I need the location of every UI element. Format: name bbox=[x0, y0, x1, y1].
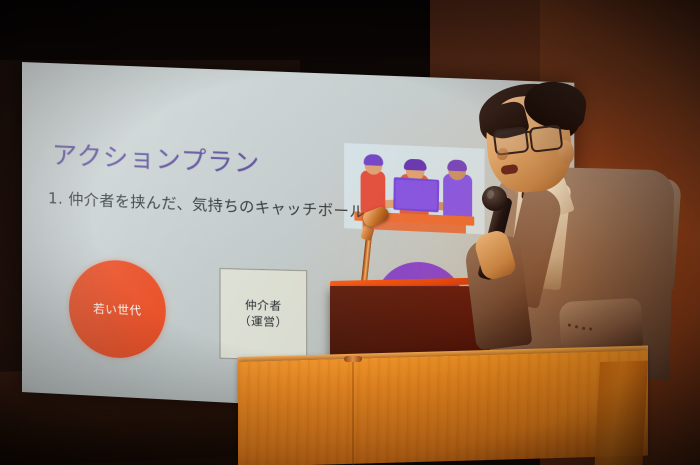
young-generation-label: 若い世代 bbox=[93, 300, 141, 318]
sleeve-button bbox=[582, 327, 585, 330]
speaker-sleeve-cuff bbox=[559, 298, 644, 352]
gooseneck-mic-base bbox=[344, 356, 362, 362]
sleeve-button bbox=[575, 325, 578, 328]
illustration-left-person-hair bbox=[364, 154, 384, 166]
podium-wood-grain bbox=[238, 351, 648, 465]
presentation-photo: アクションプラン 1. 仲介者を挟んだ、気持ちのキャッチボール 若い世代 仲介者… bbox=[0, 0, 700, 465]
slide-title: アクションプラン bbox=[52, 135, 260, 180]
wooden-podium bbox=[238, 351, 648, 465]
young-generation-ellipse: 若い世代 bbox=[69, 258, 166, 360]
podium-side-panel bbox=[594, 361, 648, 465]
illustration-right-person-hair bbox=[447, 159, 467, 171]
slide-subtitle: 1. 仲介者を挟んだ、気持ちのキャッチボール bbox=[48, 187, 365, 222]
eyeglasses-right-lens-icon bbox=[529, 124, 564, 153]
sleeve-button bbox=[589, 327, 592, 330]
sleeve-button bbox=[568, 324, 571, 327]
podium-corner-seam bbox=[352, 360, 354, 465]
speaker-nose bbox=[497, 148, 508, 160]
mediator-box: 仲介者 （運営） bbox=[220, 268, 308, 361]
mediator-label-line1: 仲介者 bbox=[245, 298, 282, 315]
illustration-center-person-hair bbox=[404, 159, 427, 171]
illustration-document-front bbox=[396, 180, 437, 210]
mediator-label-line2: （運営） bbox=[239, 314, 288, 331]
